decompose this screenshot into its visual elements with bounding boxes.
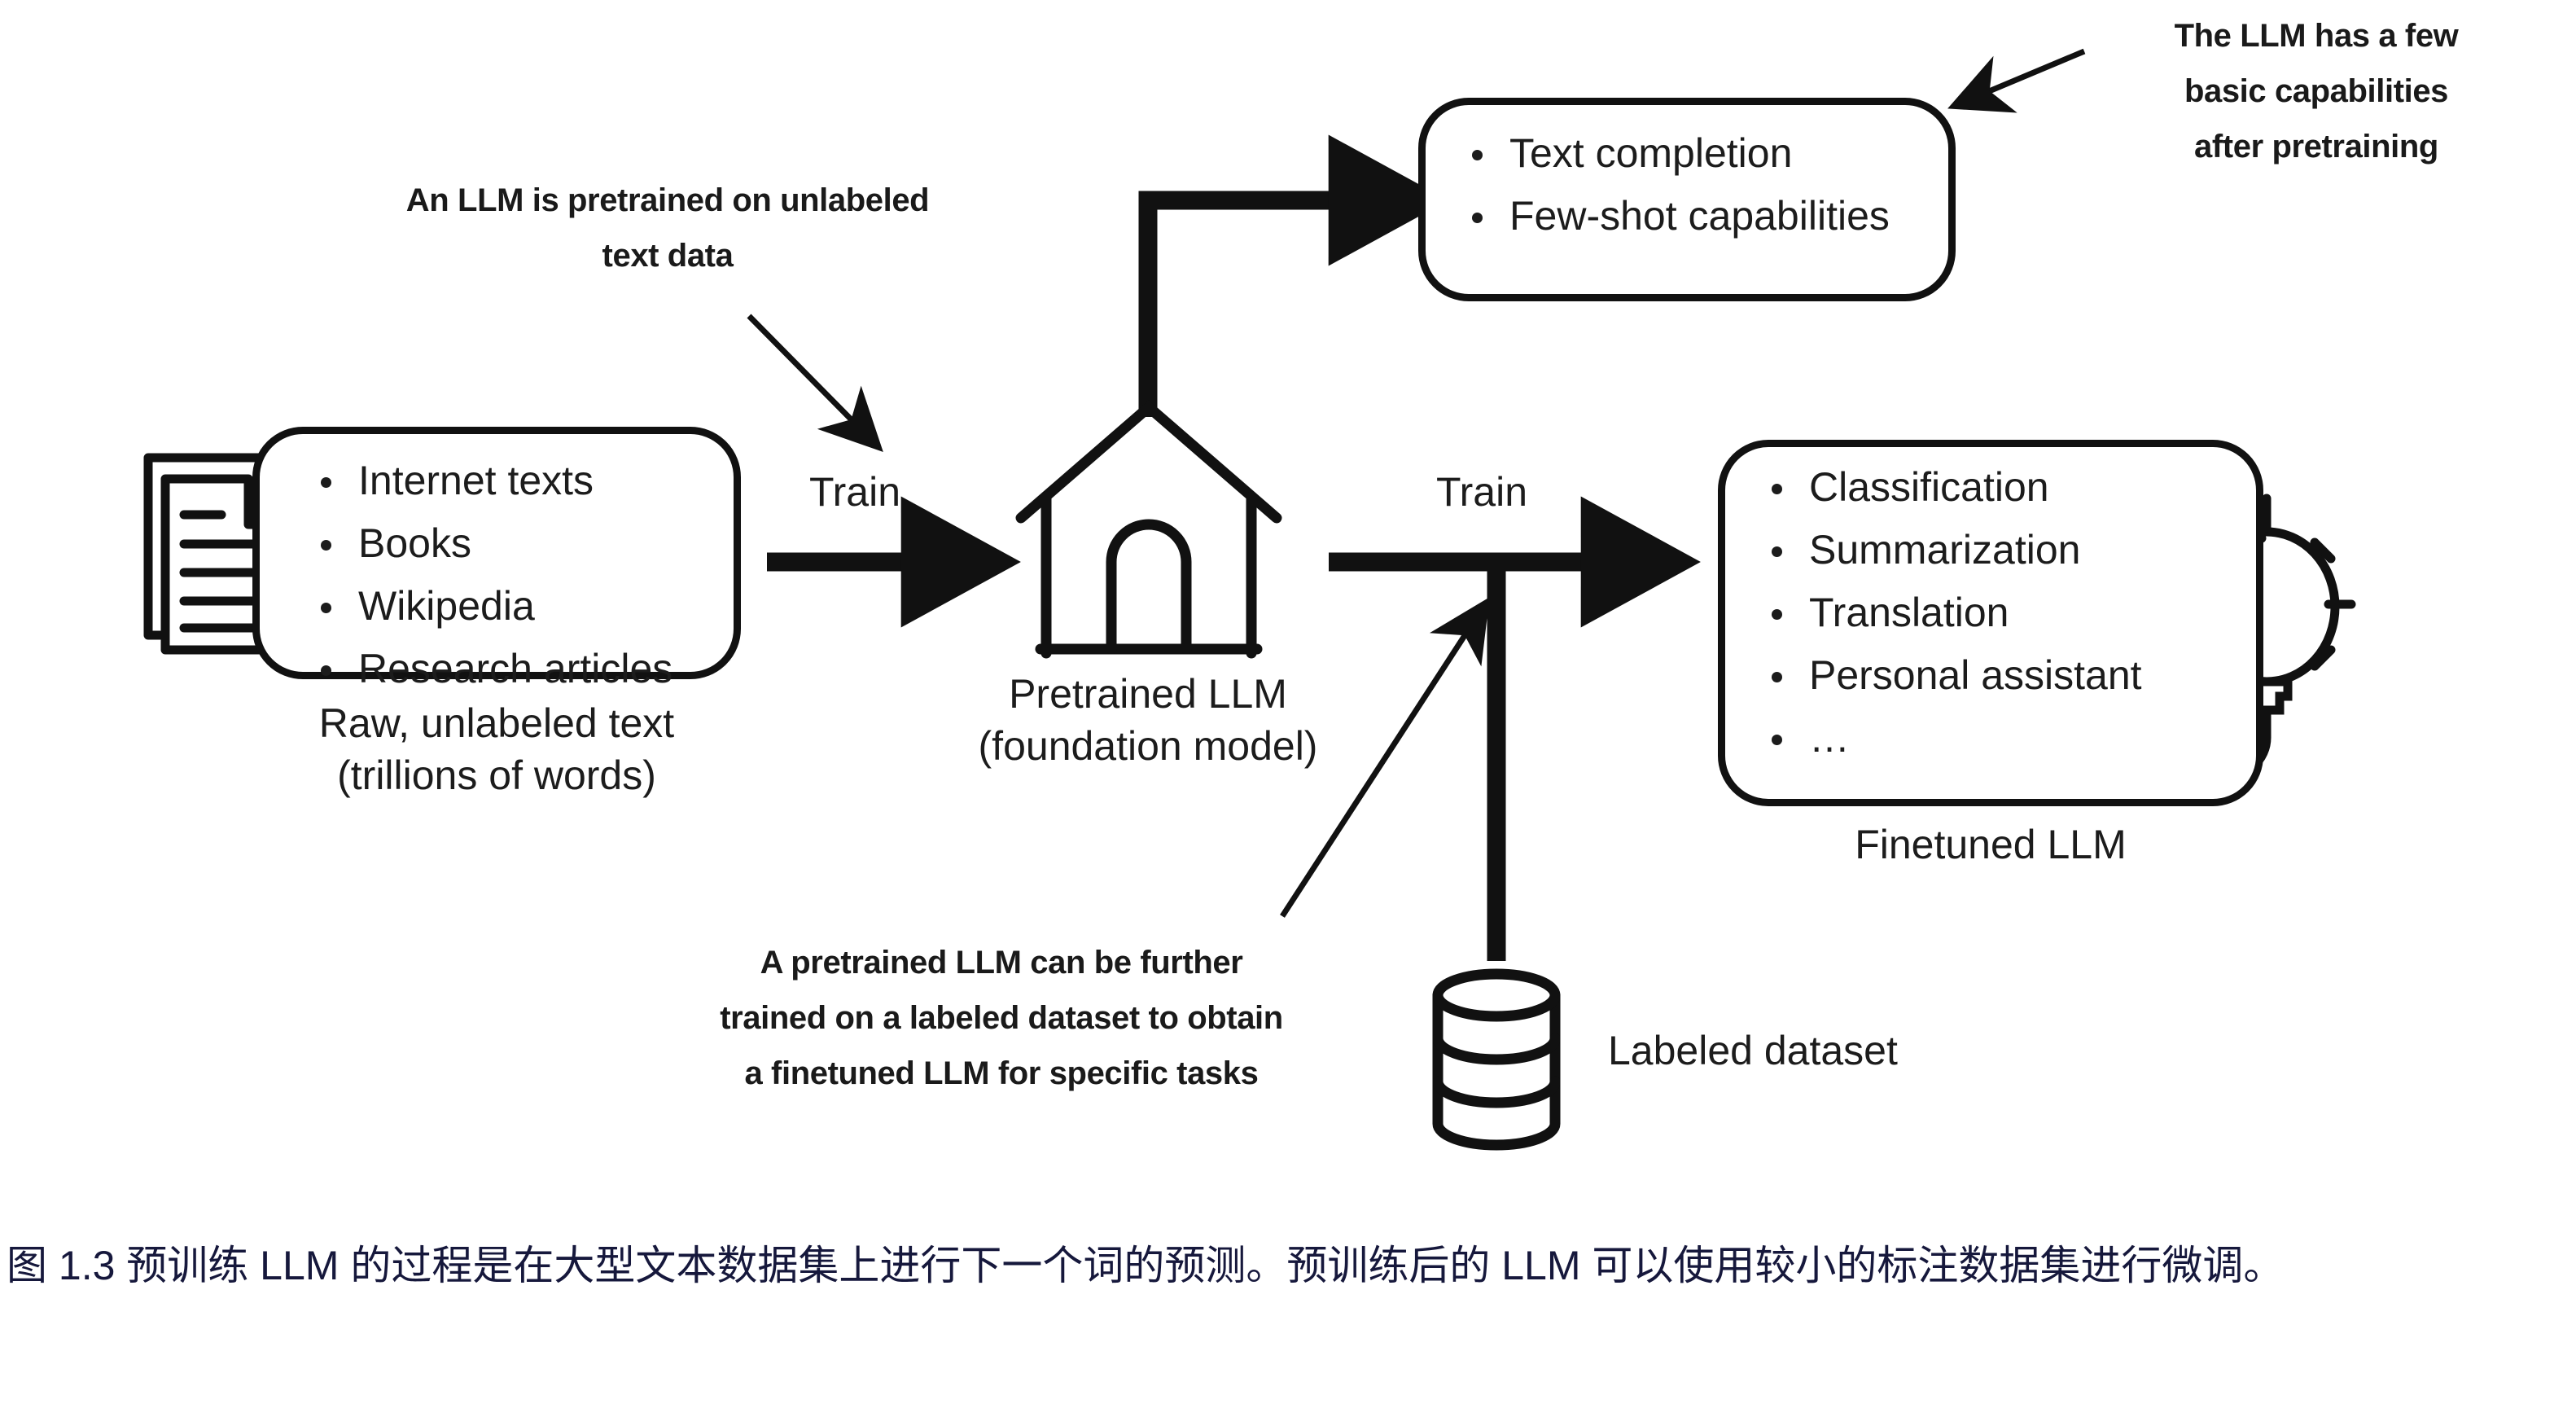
- pretrained-llm-caption-line-1: Pretrained LLM: [904, 668, 1392, 720]
- pretrain-annotation: An LLM is pretrained on unlabeled text d…: [358, 173, 977, 283]
- pretrain-note-arrow: [749, 316, 875, 444]
- finetune-annotation-line-3: a finetuned LLM for specific tasks: [643, 1046, 1360, 1101]
- finetune-annotation-line-1: A pretrained LLM can be further: [643, 935, 1360, 990]
- list-item: Books: [314, 512, 738, 575]
- pretrain-output-arrow: [1148, 200, 1368, 417]
- capabilities-note-arrow: [1958, 51, 2084, 104]
- raw-text-caption-line-1: Raw, unlabeled text: [244, 697, 749, 749]
- train-label-2: Train: [1392, 466, 1571, 518]
- capabilities-annotation-line-3: after pretraining: [2084, 119, 2548, 174]
- pretrained-llm-caption: Pretrained LLM (foundation model): [904, 668, 1392, 772]
- capabilities-annotation-line-2: basic capabilities: [2084, 64, 2548, 119]
- finetune-annotation-line-2: trained on a labeled dataset to obtain: [643, 990, 1360, 1046]
- finetuned-llm-caption-text: Finetuned LLM: [1718, 818, 2263, 871]
- list-item: Translation: [1765, 581, 2270, 644]
- figure-caption: 图 1.3 预训练 LLM 的过程是在大型文本数据集上进行下一个词的预测。预训练…: [7, 1235, 2563, 1297]
- list-item: Summarization: [1765, 519, 2270, 581]
- raw-text-caption-line-2: (trillions of words): [244, 749, 749, 801]
- capabilities-annotation: The LLM has a few basic capabilities aft…: [2084, 8, 2548, 174]
- figure-caption-text: 图 1.3 预训练 LLM 的过程是在大型文本数据集上进行下一个词的预测。预训练…: [7, 1243, 2284, 1288]
- finetuned-llm-bullet-list: Classification Summarization Translation…: [1765, 456, 2270, 770]
- database-icon: [1438, 974, 1555, 1145]
- train-label-1: Train: [765, 466, 944, 518]
- pretrain-annotation-line-1: An LLM is pretrained on unlabeled: [358, 173, 977, 228]
- list-item: …: [1765, 707, 2270, 770]
- pretrain-annotation-line-2: text data: [358, 228, 977, 283]
- list-item: Internet texts: [314, 450, 738, 512]
- list-item: Classification: [1765, 456, 2270, 519]
- base-capabilities-bullet-list: Text completion Few-shot capabilities: [1465, 122, 1954, 248]
- pretrained-llm-caption-line-2: (foundation model): [904, 720, 1392, 772]
- list-item: Few-shot capabilities: [1465, 185, 1954, 248]
- labeled-dataset-caption: Labeled dataset: [1608, 1024, 2064, 1077]
- list-item: Text completion: [1465, 122, 1954, 185]
- list-item: Personal assistant: [1765, 644, 2270, 707]
- capabilities-annotation-line-1: The LLM has a few: [2084, 8, 2548, 64]
- raw-text-bullet-list: Internet texts Books Wikipedia Research …: [314, 450, 738, 700]
- train-label-2-text: Train: [1392, 466, 1571, 518]
- train-label-1-text: Train: [765, 466, 944, 518]
- labeled-dataset-caption-text: Labeled dataset: [1608, 1024, 2064, 1077]
- list-item: Wikipedia: [314, 575, 738, 638]
- list-item: Research articles: [314, 638, 738, 700]
- finetuned-llm-caption: Finetuned LLM: [1718, 818, 2263, 871]
- house-icon: [1021, 407, 1277, 653]
- figure-diagram: An LLM is pretrained on unlabeled text d…: [0, 0, 2576, 1205]
- finetune-annotation: A pretrained LLM can be further trained …: [643, 935, 1360, 1101]
- raw-text-caption: Raw, unlabeled text (trillions of words): [244, 697, 749, 801]
